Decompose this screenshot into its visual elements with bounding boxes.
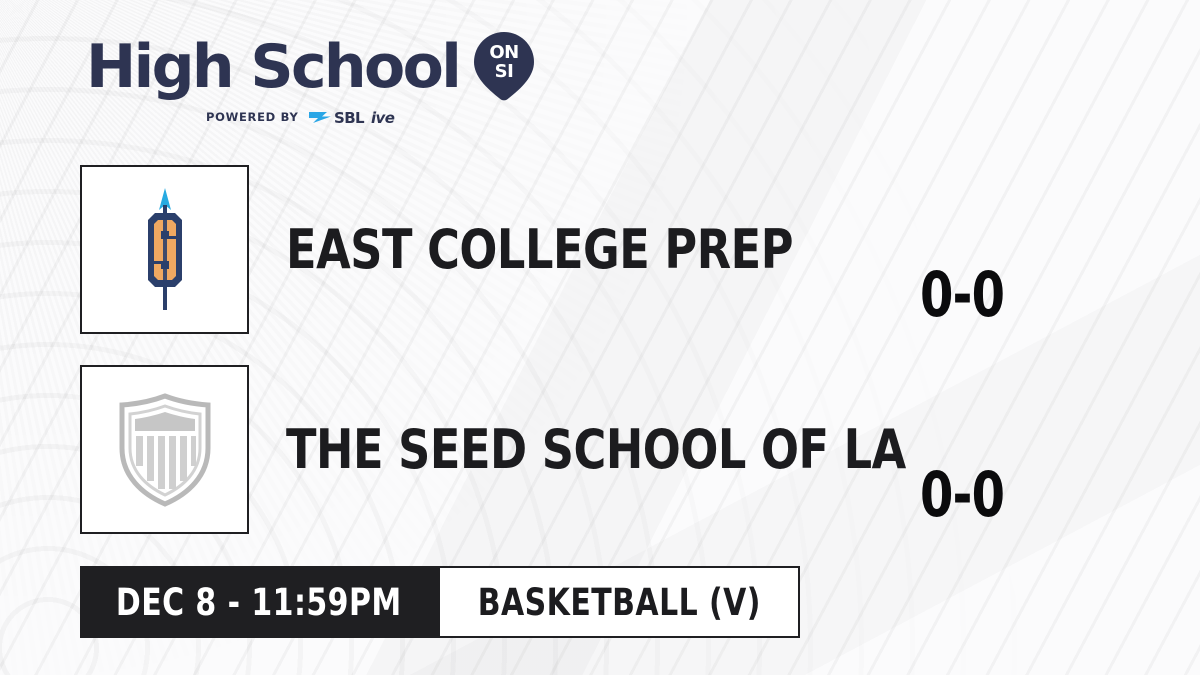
brand-lockup: High School ON SI POWERED BY SBL ive (86, 33, 535, 127)
brand-title-row: High School ON SI (86, 33, 535, 101)
powered-by-lockup: POWERED BY SBL ive (86, 107, 535, 127)
team-name: THE SEED SCHOOL OF LA (286, 423, 906, 477)
team-row: EAST COLLEGE PREP (80, 165, 837, 334)
info-bar: DEC 8 - 11:59PM BASKETBALL (V) (80, 566, 800, 638)
team-logo-shield-placeholder-icon (112, 392, 218, 508)
svg-text:SBL: SBL (334, 109, 365, 127)
game-datetime: DEC 8 - 11:59PM (116, 584, 402, 621)
brand-title: High School (86, 37, 459, 97)
team-name: EAST COLLEGE PREP (286, 223, 793, 277)
team-record: 0-0 (920, 464, 1004, 526)
team-logo-box (80, 365, 249, 534)
game-sport-block: BASKETBALL (V) (440, 566, 801, 638)
team-record: 0-0 (920, 264, 1004, 326)
svg-text:SI: SI (495, 61, 514, 82)
on-si-pin-icon: ON SI (473, 31, 535, 101)
game-datetime-block: DEC 8 - 11:59PM (80, 566, 440, 638)
svg-text:ive: ive (371, 109, 395, 127)
team-logo-box (80, 165, 249, 334)
team-logo-spear-s-crest-icon (135, 186, 195, 314)
sblive-logo-icon: SBL ive (307, 107, 415, 127)
svg-text:ON: ON (490, 42, 519, 63)
game-sport: BASKETBALL (V) (477, 584, 760, 621)
matchup-graphic: High School ON SI POWERED BY SBL ive (0, 0, 1200, 675)
powered-by-label: POWERED BY (206, 110, 298, 124)
team-row: THE SEED SCHOOL OF LA (80, 365, 960, 534)
